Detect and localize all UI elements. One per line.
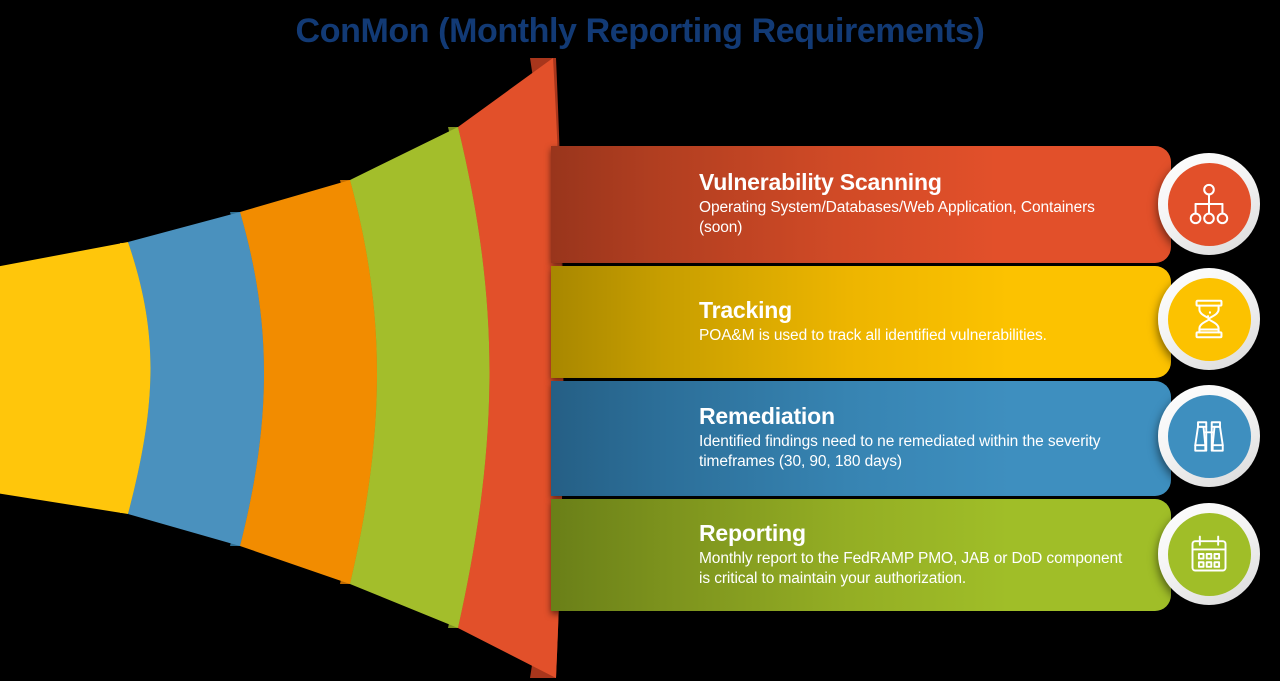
step-band-tracking[interactable]: Tracking POA&M is used to track all iden…	[551, 266, 1171, 378]
funnel-red-body	[458, 58, 563, 678]
step-badge-reporting[interactable]	[1158, 503, 1260, 605]
step-title: Reporting	[699, 521, 1131, 547]
calendar-icon	[1187, 532, 1231, 576]
page-title: ConMon (Monthly Reporting Requirements)	[0, 12, 1280, 51]
step-description: Monthly report to the FedRAMP PMO, JAB o…	[699, 549, 1131, 589]
step-description: POA&M is used to track all identified vu…	[699, 326, 1131, 346]
funnel-yellow-edge	[120, 243, 163, 513]
hourglass-icon	[1186, 296, 1232, 342]
step-badge-tracking[interactable]	[1158, 268, 1260, 370]
step-description: Identified findings need to ne remediate…	[699, 432, 1131, 472]
hierarchy-icon	[1186, 181, 1232, 227]
step-band-vulnerability-scanning[interactable]: Vulnerability Scanning Operating System/…	[551, 146, 1171, 263]
infographic-canvas: ConMon (Monthly Reporting Requirements) …	[0, 0, 1280, 681]
step-badge-remediation[interactable]	[1158, 385, 1260, 487]
funnel-blue-edge	[230, 212, 274, 546]
funnel-orange-body	[240, 180, 377, 584]
step-description: Operating System/Databases/Web Applicati…	[699, 198, 1131, 238]
step-title: Remediation	[699, 404, 1131, 430]
funnel-green-body	[350, 127, 490, 628]
binoculars-icon	[1187, 414, 1231, 458]
step-band-reporting[interactable]: Reporting Monthly report to the FedRAMP …	[551, 499, 1171, 611]
funnel-orange-edge	[340, 180, 389, 584]
step-title: Tracking	[699, 298, 1131, 324]
funnel-yellow-body	[0, 242, 151, 514]
funnel-green-edge	[448, 127, 504, 628]
step-badge-vulnerability-scanning[interactable]	[1158, 153, 1260, 255]
funnel-blue-body	[128, 212, 264, 546]
step-title: Vulnerability Scanning	[699, 170, 1131, 196]
step-band-remediation[interactable]: Remediation Identified findings need to …	[551, 381, 1171, 496]
